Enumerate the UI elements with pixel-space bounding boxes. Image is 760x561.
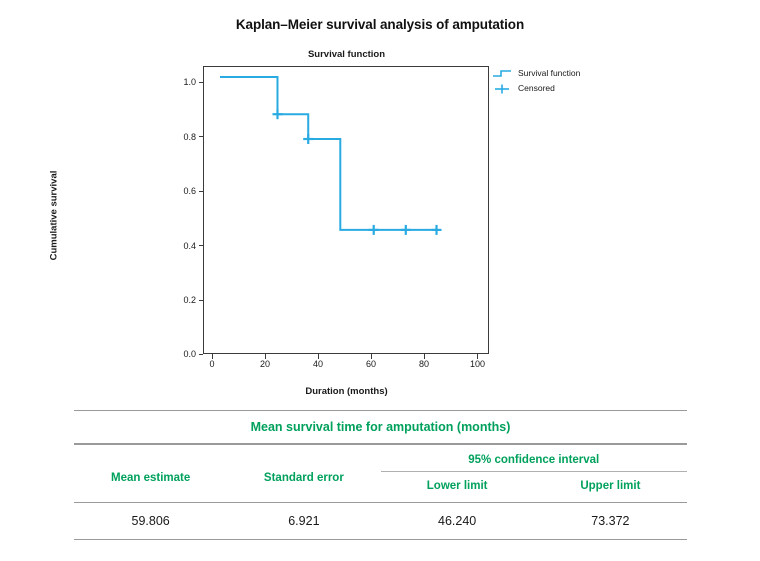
x-tick-label: 40 [298,359,338,369]
x-tick-label: 20 [245,359,285,369]
legend-item-censored: Censored [492,81,612,94]
plus-marker-icon [492,82,514,94]
survival-chart: Survival function 1.0 0.8 0.6 0.4 0.2 0.… [0,0,760,405]
table-group-header-ci: 95% confidence interval [381,445,688,471]
y-tick-label: 0.6 [162,186,196,196]
x-tick-label: 80 [404,359,444,369]
table-bottom-rule [74,539,687,540]
table-caption: Mean survival time for amputation (month… [74,411,687,443]
survival-step-line [220,77,438,230]
y-tick-label: 1.0 [162,77,196,87]
y-tick-label: 0.8 [162,132,196,142]
x-tick-label: 60 [351,359,391,369]
table-header-mean-estimate: Mean estimate [74,462,227,484]
x-tick-label: 100 [458,359,498,369]
survival-curve [203,66,489,354]
chart-subtitle: Survival function [203,49,490,60]
mean-survival-table: Mean survival time for amputation (month… [74,410,687,540]
chart-legend: Survival function Censored [492,66,612,96]
y-axis-title: Cumulative survival [49,126,60,306]
legend-label: Survival function [518,68,580,78]
table-header-grid: 95% confidence interval Mean estimate St… [74,445,687,502]
legend-label: Censored [518,83,555,93]
cell-mean-estimate: 59.806 [74,503,227,539]
cell-lower-limit: 46.240 [381,503,534,539]
y-tick-label: 0.0 [162,349,196,359]
table-row: 59.806 6.921 46.240 73.372 [74,503,687,539]
table-header-standard-error: Standard error [227,462,380,484]
censored-markers [272,109,441,235]
table-header-lower-limit: Lower limit [381,472,534,502]
legend-item-survival-function: Survival function [492,66,612,79]
y-tick-label: 0.4 [162,241,196,251]
cell-standard-error: 6.921 [227,503,380,539]
step-line-icon [492,67,514,79]
x-tick-label: 0 [192,359,232,369]
x-axis-title: Duration (months) [203,386,490,397]
y-tick-label: 0.2 [162,295,196,305]
table-header-upper-limit: Upper limit [534,472,687,502]
cell-upper-limit: 73.372 [534,503,687,539]
